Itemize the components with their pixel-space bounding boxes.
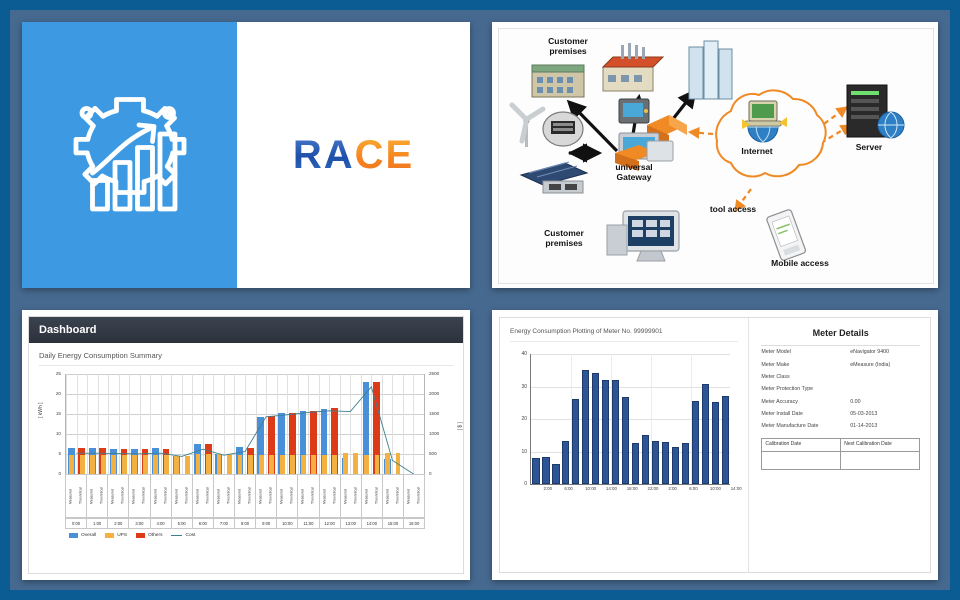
meter-detail-row: Meter ModeleNavigator 9400 bbox=[761, 346, 920, 358]
chart1-category-cell: MeasuredTheoretical bbox=[341, 474, 362, 518]
meter-panel: Energy Consumption Plotting of Meter No.… bbox=[492, 310, 938, 580]
meter-detail-row: Meter Install Date05-03-2013 bbox=[761, 408, 920, 420]
chart1-subcategory-label: Theoretical bbox=[351, 475, 361, 517]
meter-detail-value: eMeasure (India) bbox=[850, 362, 920, 368]
chart2-bar bbox=[632, 443, 639, 484]
chart2-x-tick: 14:00 bbox=[731, 486, 742, 491]
chart1-category-cell: MeasuredTheoretical bbox=[298, 474, 319, 518]
meter-detail-value: eNavigator 9400 bbox=[850, 349, 920, 355]
logo-icon-area bbox=[22, 22, 237, 288]
chart1-category-cell: MeasuredTheoretical bbox=[214, 474, 235, 518]
legend-swatch bbox=[171, 535, 182, 536]
legend-swatch bbox=[69, 533, 78, 538]
electric-meter-icon bbox=[543, 112, 583, 146]
chart2-bar bbox=[652, 441, 659, 484]
chart1-subcategory-label: Theoretical bbox=[245, 475, 255, 517]
chart1-subcategory-label: Theoretical bbox=[139, 475, 149, 517]
arch-label-internet: Internet bbox=[727, 147, 787, 157]
chart1-y2-axis-label: [ $ ] bbox=[457, 422, 463, 430]
gear-growth-chart-icon bbox=[55, 80, 205, 230]
dashboard-header: Dashboard bbox=[29, 317, 463, 343]
chart2-bar bbox=[712, 402, 719, 484]
chart1-y-tick: 10 bbox=[39, 431, 61, 436]
desktop-monitor-icon bbox=[607, 211, 679, 261]
chart1-category-cell: MeasuredTheoretical bbox=[383, 474, 404, 518]
arch-label-customer-premises-top: Customerpremises bbox=[533, 37, 603, 57]
chart2-y-tick: 0 bbox=[510, 481, 527, 487]
chart2-plot-area bbox=[530, 354, 730, 485]
chart1-subcategory-label: Theoretical bbox=[330, 475, 340, 517]
chart1-category-cell: MeasuredTheoretical bbox=[235, 474, 256, 518]
office-building-icon bbox=[532, 65, 584, 97]
chart2-bar bbox=[622, 397, 629, 484]
chart1-subcategory-label: Measured bbox=[341, 475, 351, 517]
meter-detail-key: Meter Class bbox=[761, 374, 850, 380]
chart1-category-cell: MeasuredTheoretical bbox=[172, 474, 193, 518]
logo-panel: RACE bbox=[22, 22, 470, 288]
chart1-y-tick: 15 bbox=[39, 411, 61, 416]
meter-details-list: Meter ModeleNavigator 9400Meter MakeeMea… bbox=[761, 346, 920, 433]
chart2-x-tick: 14:00 bbox=[606, 486, 617, 491]
chart1-subcategory-row: MeasuredTheoreticalMeasuredTheoreticalMe… bbox=[65, 474, 425, 518]
chart2-y-tick: 30 bbox=[510, 384, 527, 390]
solar-panel-icon bbox=[521, 162, 587, 193]
chart1-category-cell: MeasuredTheoretical bbox=[193, 474, 214, 518]
poster-backdrop: RACE bbox=[10, 10, 950, 590]
chart1-subcategory-label: Theoretical bbox=[266, 475, 276, 517]
chart2-bar bbox=[722, 396, 729, 484]
chart2-gridline bbox=[531, 419, 730, 420]
chart1-hour-label: 9:00 bbox=[256, 518, 277, 529]
legend-label: UPS bbox=[117, 533, 127, 538]
chart1-y2-tick: 1000 bbox=[429, 431, 453, 436]
hmi-panel-icon bbox=[619, 99, 649, 123]
chart1-hour-label: 14:00 bbox=[362, 518, 383, 529]
chart1-y-tick: 0 bbox=[39, 471, 61, 476]
chart1-hour-label: 13:00 bbox=[341, 518, 362, 529]
chart2-y-tick: 20 bbox=[510, 416, 527, 422]
chart2-x-tick: 6:00 bbox=[564, 486, 573, 491]
dashboard-card: Dashboard Daily Energy Consumption Summa… bbox=[28, 316, 464, 574]
chart2-gridline bbox=[531, 387, 730, 388]
meter-detail-value bbox=[850, 374, 920, 380]
chart1-subcategory-label: Measured bbox=[87, 475, 97, 517]
chart1-subcategory-label: Theoretical bbox=[287, 475, 297, 517]
chart1-subcategory-label: Measured bbox=[235, 475, 245, 517]
architecture-diagram: Customerpremises universalGateway Intern… bbox=[498, 28, 934, 284]
arch-label-server: Server bbox=[839, 143, 899, 153]
calibration-row bbox=[762, 452, 919, 469]
race-wordmark: RACE bbox=[293, 133, 414, 178]
meter-card: Energy Consumption Plotting of Meter No.… bbox=[499, 317, 931, 573]
legend-label: Cost bbox=[185, 533, 195, 538]
chart1-hour-row: 0:001:002:003:004:005:006:007:008:009:00… bbox=[65, 518, 425, 529]
chart1-hour-label: 15:00 bbox=[383, 518, 404, 529]
chart1-hour-label: 16:00 bbox=[404, 518, 425, 529]
chart1-hour-label: 6:00 bbox=[193, 518, 214, 529]
meter-detail-key: Meter Make bbox=[761, 362, 850, 368]
chart1-category-cell: MeasuredTheoretical bbox=[87, 474, 108, 518]
chart2-x-tick: 2:00 bbox=[668, 486, 677, 491]
chart2-bar bbox=[542, 457, 549, 484]
mobile-phone-icon bbox=[766, 209, 806, 261]
legend-label: Overall bbox=[81, 533, 96, 538]
chart1-hour-label: 5:00 bbox=[172, 518, 193, 529]
chart1-subcategory-label: Theoretical bbox=[161, 475, 171, 517]
meter-energy-chart[interactable]: 010203040 2:006:0010:0014:0018:0022:002:… bbox=[510, 350, 738, 520]
chart1-subcategory-label: Measured bbox=[404, 475, 414, 517]
chart1-subcategory-label: Measured bbox=[256, 475, 266, 517]
chart1-y2-tick: 2500 bbox=[429, 371, 453, 376]
chart1-hour-label: 7:00 bbox=[214, 518, 235, 529]
chart2-gridline bbox=[531, 354, 730, 355]
chart1-category-cell: MeasuredTheoretical bbox=[65, 474, 87, 518]
chart1-y-tick: 20 bbox=[39, 391, 61, 396]
chart1-category-cell: MeasuredTheoretical bbox=[256, 474, 277, 518]
legend-swatch bbox=[105, 533, 114, 538]
calibration-cell bbox=[762, 452, 841, 469]
chart1-subcategory-label: Measured bbox=[362, 475, 372, 517]
meter-detail-value: 05-03-2013 bbox=[850, 411, 920, 417]
chart1-hour-label: 0:00 bbox=[65, 518, 87, 529]
meter-detail-key: Meter Accuracy bbox=[761, 399, 850, 405]
chart2-bar bbox=[612, 380, 619, 484]
chart2-bar bbox=[662, 442, 669, 484]
chart2-bar bbox=[572, 399, 579, 484]
chart1-title: Daily Energy Consumption Summary bbox=[39, 351, 453, 366]
chart1-subcategory-label: Theoretical bbox=[308, 475, 318, 517]
meter-detail-row: Meter MakeeMeasure (India) bbox=[761, 358, 920, 370]
chart1-subcategory-label: Theoretical bbox=[203, 475, 213, 517]
server-rack-icon bbox=[847, 85, 904, 138]
chart1-hour-label: 8:00 bbox=[235, 518, 256, 529]
chart1-y-tick: 25 bbox=[39, 371, 61, 376]
meter-detail-value: 0.00 bbox=[850, 399, 920, 405]
daily-energy-chart[interactable]: [ kWh ] [ $ ] 0510152025 050010001500200… bbox=[39, 370, 453, 550]
chart1-cost-line bbox=[66, 374, 424, 474]
factory-icon bbox=[603, 43, 663, 91]
chart2-x-tick: 10:00 bbox=[585, 486, 596, 491]
chart2-bar bbox=[702, 384, 709, 484]
chart1-y2-tick: 2000 bbox=[429, 391, 453, 396]
chart1-legend-item-others[interactable]: Others bbox=[136, 533, 162, 538]
meter-details-heading: Meter Details bbox=[761, 328, 920, 346]
chart1-subcategory-label: Measured bbox=[383, 475, 393, 517]
arch-label-universal-gateway: universalGateway bbox=[599, 163, 669, 183]
chart1-subcategory-label: Measured bbox=[66, 475, 76, 517]
dashboard-title: Dashboard bbox=[39, 324, 96, 336]
chart1-subcategory-label: Theoretical bbox=[224, 475, 234, 517]
chart1-legend[interactable]: OverallUPSOthersCost bbox=[69, 533, 195, 538]
dashboard-panel: Dashboard Daily Energy Consumption Summa… bbox=[22, 310, 470, 580]
architecture-panel: Customerpremises universalGateway Intern… bbox=[492, 22, 938, 288]
logo-wordmark-area: RACE bbox=[237, 22, 470, 288]
chart2-y-tick: 10 bbox=[510, 449, 527, 455]
meter-detail-row: Meter Accuracy0.00 bbox=[761, 396, 920, 408]
chart1-hour-label: 1:00 bbox=[87, 518, 108, 529]
meter-detail-key: Meter Protection Type bbox=[761, 386, 850, 392]
meter-detail-value: 01-14-2013 bbox=[850, 423, 920, 429]
chart2-y-tick: 40 bbox=[510, 351, 527, 357]
chart1-subcategory-label: Measured bbox=[193, 475, 203, 517]
chart2-x-tick: 22:00 bbox=[648, 486, 659, 491]
calibration-header-cell: Calibration Date bbox=[762, 439, 841, 451]
chart1-legend-item-ups[interactable]: UPS bbox=[105, 533, 127, 538]
calibration-cell bbox=[841, 452, 919, 469]
meter-detail-value bbox=[850, 386, 920, 392]
chart1-hour-label: 12:00 bbox=[320, 518, 341, 529]
meter-detail-row: Meter Manufacture Date01-14-2013 bbox=[761, 420, 920, 432]
chart2-x-tick: 10:00 bbox=[710, 486, 721, 491]
chart1-subcategory-label: Theoretical bbox=[182, 475, 192, 517]
arch-label-tool-access: tool access bbox=[695, 205, 771, 215]
chart1-category-cell: MeasuredTheoretical bbox=[151, 474, 172, 518]
chart1-hour-label: 11:00 bbox=[298, 518, 319, 529]
chart2-gridline bbox=[531, 452, 730, 453]
chart1-hour-label: 4:00 bbox=[151, 518, 172, 529]
chart1-subcategory-label: Measured bbox=[172, 475, 182, 517]
legend-label: Others bbox=[148, 533, 162, 538]
chart1-category-cell: MeasuredTheoretical bbox=[129, 474, 150, 518]
meter-details-section: Meter Details Meter ModeleNavigator 9400… bbox=[749, 318, 930, 572]
chart1-subcategory-label: Measured bbox=[214, 475, 224, 517]
chart1-category-cell: MeasuredTheoretical bbox=[108, 474, 129, 518]
meter-detail-key: Meter Manufacture Date bbox=[761, 423, 850, 429]
chart1-subcategory-label: Theoretical bbox=[118, 475, 128, 517]
chart2-bar bbox=[682, 443, 689, 484]
chart2-bar bbox=[642, 435, 649, 484]
chart1-y-tick: 5 bbox=[39, 451, 61, 456]
chart1-subcategory-label: Measured bbox=[151, 475, 161, 517]
wordmark-ra: RA bbox=[293, 133, 355, 177]
meter-detail-row: Meter Protection Type bbox=[761, 383, 920, 395]
calibration-header-row: Calibration DateNext Calibration Date bbox=[762, 439, 919, 452]
calibration-header-cell: Next Calibration Date bbox=[841, 439, 919, 451]
chart1-hour-label: 10:00 bbox=[277, 518, 298, 529]
chart1-legend-item-cost[interactable]: Cost bbox=[171, 533, 195, 538]
chart2-title: Energy Consumption Plotting of Meter No.… bbox=[510, 328, 738, 342]
arch-label-mobile-access: Mobile access bbox=[757, 259, 843, 269]
chart1-subcategory-label: Measured bbox=[108, 475, 118, 517]
chart1-subcategory-label: Theoretical bbox=[393, 475, 403, 517]
legend-swatch bbox=[136, 533, 145, 538]
chart2-x-tick: 2:00 bbox=[544, 486, 553, 491]
chart1-hour-label: 3:00 bbox=[129, 518, 150, 529]
dashboard-body: Daily Energy Consumption Summary [ kWh ]… bbox=[29, 343, 463, 558]
chart1-category-cell: MeasuredTheoretical bbox=[362, 474, 383, 518]
chart2-bar bbox=[602, 380, 609, 484]
chart2-bar bbox=[672, 447, 679, 484]
meter-detail-key: Meter Install Date bbox=[761, 411, 850, 417]
chart1-subcategory-label: Measured bbox=[129, 475, 139, 517]
chart1-y2-tick: 500 bbox=[429, 451, 453, 456]
arch-label-customer-premises-bottom: Customerpremises bbox=[529, 229, 599, 249]
chart1-subcategory-label: Measured bbox=[277, 475, 287, 517]
wordmark-ce: CE bbox=[355, 133, 415, 177]
chart1-legend-item-overall[interactable]: Overall bbox=[69, 533, 96, 538]
chart1-subcategory-label: Theoretical bbox=[97, 475, 107, 517]
chart1-y2-tick: 1500 bbox=[429, 411, 453, 416]
calibration-table: Calibration DateNext Calibration Date bbox=[761, 438, 920, 470]
chart2-bar bbox=[562, 441, 569, 484]
meter-detail-row: Meter Class bbox=[761, 371, 920, 383]
chart2-bar bbox=[582, 370, 589, 484]
chart2-bar bbox=[532, 458, 539, 484]
chart2-x-tick: 18:00 bbox=[627, 486, 638, 491]
chart1-category-cell: MeasuredTheoretical bbox=[404, 474, 425, 518]
chart1-subcategory-label: Theoretical bbox=[414, 475, 424, 517]
chart1-subcategory-label: Measured bbox=[298, 475, 308, 517]
chart2-bar bbox=[692, 401, 699, 484]
meter-detail-key: Meter Model bbox=[761, 349, 850, 355]
meter-chart-section: Energy Consumption Plotting of Meter No.… bbox=[500, 318, 749, 572]
wind-turbine-icon bbox=[512, 105, 543, 147]
chart1-category-cell: MeasuredTheoretical bbox=[320, 474, 341, 518]
chart2-x-tick: 6:00 bbox=[689, 486, 698, 491]
chart1-hour-label: 2:00 bbox=[108, 518, 129, 529]
chart1-category-cell: MeasuredTheoretical bbox=[277, 474, 298, 518]
data-center-icon bbox=[689, 41, 732, 99]
chart1-plot-area bbox=[65, 374, 425, 475]
chart2-bar bbox=[552, 464, 559, 484]
chart2-bar bbox=[592, 373, 599, 484]
chart1-subcategory-label: Theoretical bbox=[76, 475, 86, 517]
chart1-subcategory-label: Measured bbox=[320, 475, 330, 517]
chart1-y2-tick: 0 bbox=[429, 471, 453, 476]
chart1-subcategory-label: Theoretical bbox=[372, 475, 382, 517]
